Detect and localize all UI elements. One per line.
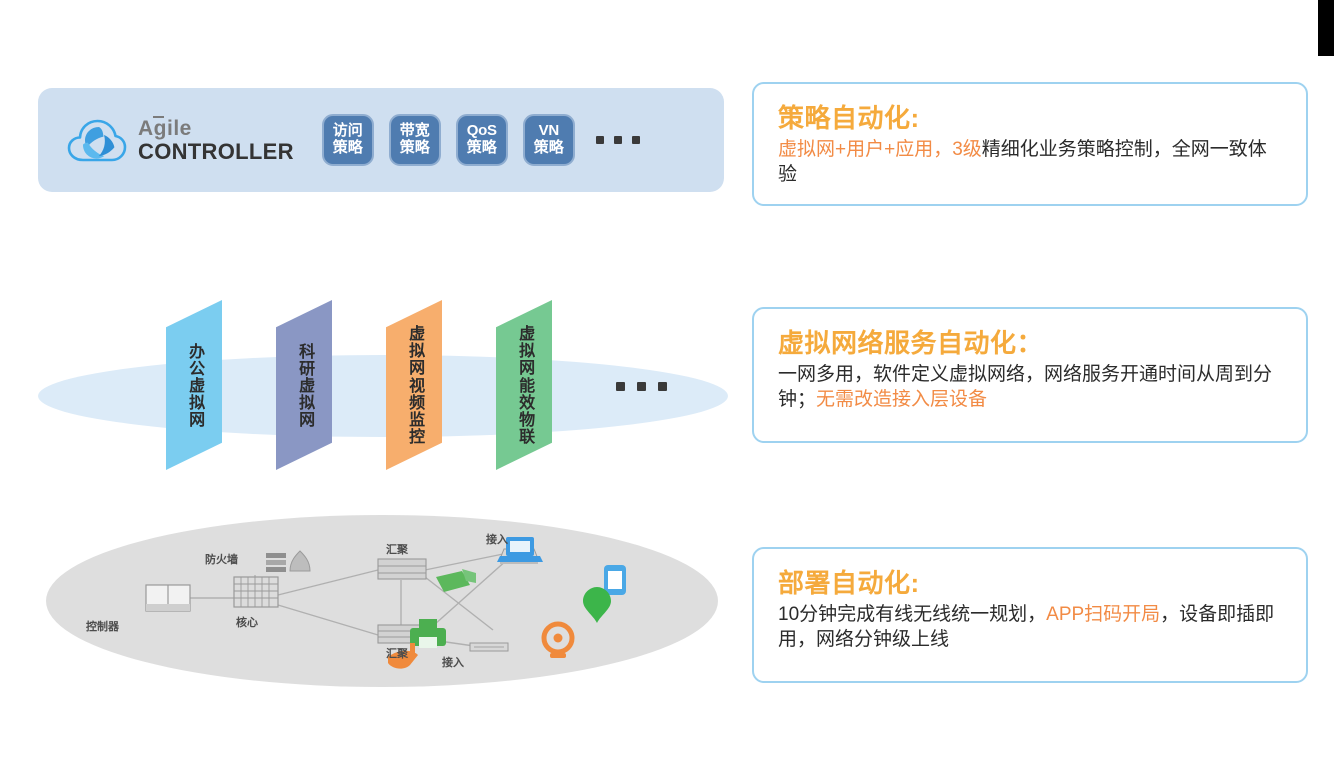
access-policy-line1: 访问 [333, 123, 363, 140]
slide-canvas: Agile CONTROLLER 访问 策略 带宽 策略 QoS 策略 VN 策… [0, 0, 1334, 783]
firewall-node-label: 防火墙 [205, 551, 238, 567]
energy-iot-virtual-network-slab[interactable]: 能效物联 虚拟网 [496, 300, 552, 470]
topology-graphics [38, 515, 728, 690]
video-surveillance-label: 视频监控 虚拟网 [406, 325, 422, 445]
agile-controller-wordmark: Agile CONTROLLER [138, 118, 294, 163]
controller-node-label: 控制器 [86, 618, 119, 634]
office-vn-col-right: 办公虚拟网 [186, 343, 202, 428]
energy-vn-col-left: 虚拟网 [516, 325, 532, 376]
deployment-automation-body: 10分钟完成有线无线统一规划，APP扫码开局，设备即插即用，网络分钟级上线 [778, 602, 1284, 652]
bandwidth-policy-line1: 带宽 [400, 123, 430, 140]
energy-iot-label: 能效物联 虚拟网 [516, 325, 532, 445]
access-policy-line2: 策略 [333, 140, 363, 157]
deployment-automation-title: 部署自动化: [778, 563, 1284, 600]
aggregation-lower-node-label: 汇聚 [386, 645, 408, 661]
deployment-automation-highlight: APP扫码开局 [1046, 604, 1160, 625]
webcam-icon [544, 624, 572, 658]
core-switch-icon [234, 577, 278, 607]
top-right-black-bar [1318, 0, 1334, 56]
vn-policy-line2: 策略 [534, 140, 564, 157]
ellipsis-dot [658, 382, 667, 391]
policy-automation-body: 虚拟网+用户+应用，3级精细化业务策略控制，全网一致体验 [778, 137, 1284, 187]
tablet-icon [604, 565, 626, 595]
ellipsis-dot [637, 382, 646, 391]
office-virtual-network-slab[interactable]: 办公虚拟网 [166, 300, 222, 470]
vn-service-automation-highlight: 无需改造接入层设备 [816, 389, 987, 410]
brand-agile-text: Agile [138, 117, 192, 140]
video-vn-col-right: 视频监控 [406, 377, 422, 445]
virtual-network-service-automation-panel: 虚拟网络服务自动化： 一网多用，软件定义虚拟网络，网络服务开通时间从周到分钟；无… [752, 307, 1308, 443]
access-ap-lower-icon [470, 643, 508, 651]
deployment-automation-panel: 部署自动化: 10分钟完成有线无线统一规划，APP扫码开局，设备即插即用，网络分… [752, 547, 1308, 683]
access-lower-node-label: 接入 [442, 654, 464, 670]
research-virtual-network-slab[interactable]: 科研虚拟网 [276, 300, 332, 470]
cloud-icon [66, 114, 128, 166]
network-fabric-ellipse [38, 355, 728, 437]
ellipsis-dot [614, 136, 622, 144]
research-vn-col-right: 科研虚拟网 [296, 343, 312, 428]
video-surveillance-virtual-network-slab[interactable]: 视频监控 虚拟网 [386, 300, 442, 470]
bandwidth-policy-line2: 策略 [400, 140, 430, 157]
policy-more-ellipsis[interactable] [596, 136, 650, 144]
vn-policy-button[interactable]: VN 策略 [523, 114, 575, 166]
energy-vn-col-right: 能效物联 [516, 377, 532, 445]
vn-service-automation-body: 一网多用，软件定义虚拟网络，网络服务开通时间从周到分钟；无需改造接入层设备 [778, 362, 1284, 412]
vn-policy-line1: VN [539, 123, 559, 140]
ellipsis-dot [616, 382, 625, 391]
aggregation-upper-node-label: 汇聚 [386, 541, 408, 557]
deployment-automation-pre: 10分钟完成有线无线统一规划， [778, 604, 1046, 625]
aggregation-switch-upper-icon [378, 559, 426, 579]
cash-register-icon [436, 569, 476, 592]
agile-controller-logo: Agile CONTROLLER [66, 114, 294, 166]
policy-automation-title: 策略自动化: [778, 98, 1284, 135]
video-vn-col-left: 虚拟网 [406, 325, 422, 376]
bandwidth-policy-button[interactable]: 带宽 策略 [389, 114, 441, 166]
virtual-network-slabs-group: 办公虚拟网 科研虚拟网 视频监控 虚拟网 能效物联 虚拟网 [38, 300, 728, 500]
agile-controller-bar: Agile CONTROLLER 访问 策略 带宽 策略 QoS 策略 VN 策… [38, 88, 724, 192]
policy-button-group: 访问 策略 带宽 策略 QoS 策略 VN 策略 [322, 114, 650, 166]
access-policy-button[interactable]: 访问 策略 [322, 114, 374, 166]
printer-icon [410, 619, 446, 648]
network-topology-diagram: 控制器 防火墙 核心 汇聚 汇聚 接入 接入 [38, 515, 728, 690]
policy-automation-panel: 策略自动化: 虚拟网+用户+应用，3级精细化业务策略控制，全网一致体验 [752, 82, 1308, 206]
ellipsis-dot [632, 136, 640, 144]
ellipsis-dot [596, 136, 604, 144]
office-virtual-network-label: 办公虚拟网 [186, 343, 202, 428]
qos-policy-line2: 策略 [467, 140, 497, 157]
controller-icon [146, 585, 190, 611]
vn-service-automation-title: 虚拟网络服务自动化： [778, 323, 1284, 360]
qos-policy-line1: QoS [467, 123, 497, 140]
access-upper-node-label: 接入 [486, 531, 508, 547]
brand-agile: Agile [138, 118, 192, 139]
brand-controller-text: CONTROLLER [138, 141, 294, 163]
core-switch-node-label: 核心 [236, 614, 258, 630]
firewall-icon [266, 551, 310, 572]
sensor-icon [583, 587, 611, 623]
virtual-network-more-ellipsis[interactable] [616, 382, 679, 391]
policy-automation-highlight: 虚拟网+用户+应用，3级 [778, 139, 982, 160]
research-virtual-network-label: 科研虚拟网 [296, 343, 312, 428]
macron-mark [153, 116, 164, 118]
qos-policy-button[interactable]: QoS 策略 [456, 114, 508, 166]
